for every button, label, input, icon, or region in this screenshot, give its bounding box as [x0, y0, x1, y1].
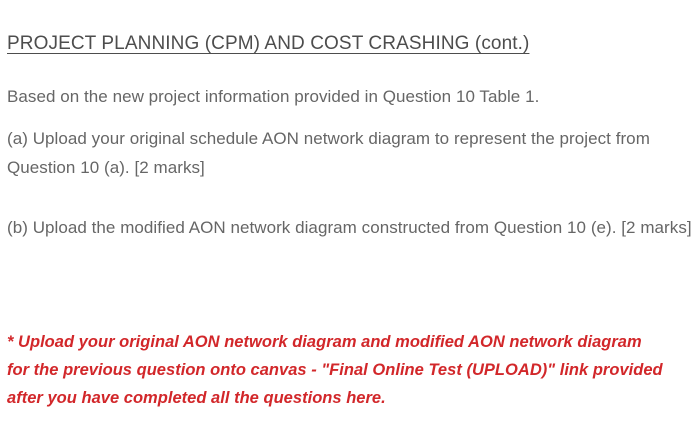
question-page: PROJECT PLANNING (CPM) AND COST CRASHING… [0, 0, 700, 436]
question-a-paragraph: (a) Upload your original schedule AON ne… [7, 124, 697, 182]
question-b-paragraph: (b) Upload the modified AON network diag… [7, 213, 697, 242]
note-line: after you have completed all the questio… [7, 384, 697, 412]
note-line: for the previous question onto canvas - … [7, 356, 697, 384]
page-title: PROJECT PLANNING (CPM) AND COST CRASHING… [7, 32, 529, 56]
note-line: * Upload your original AON network diagr… [7, 328, 697, 356]
intro-paragraph: Based on the new project information pro… [7, 82, 697, 111]
upload-instruction-note: * Upload your original AON network diagr… [7, 328, 697, 412]
